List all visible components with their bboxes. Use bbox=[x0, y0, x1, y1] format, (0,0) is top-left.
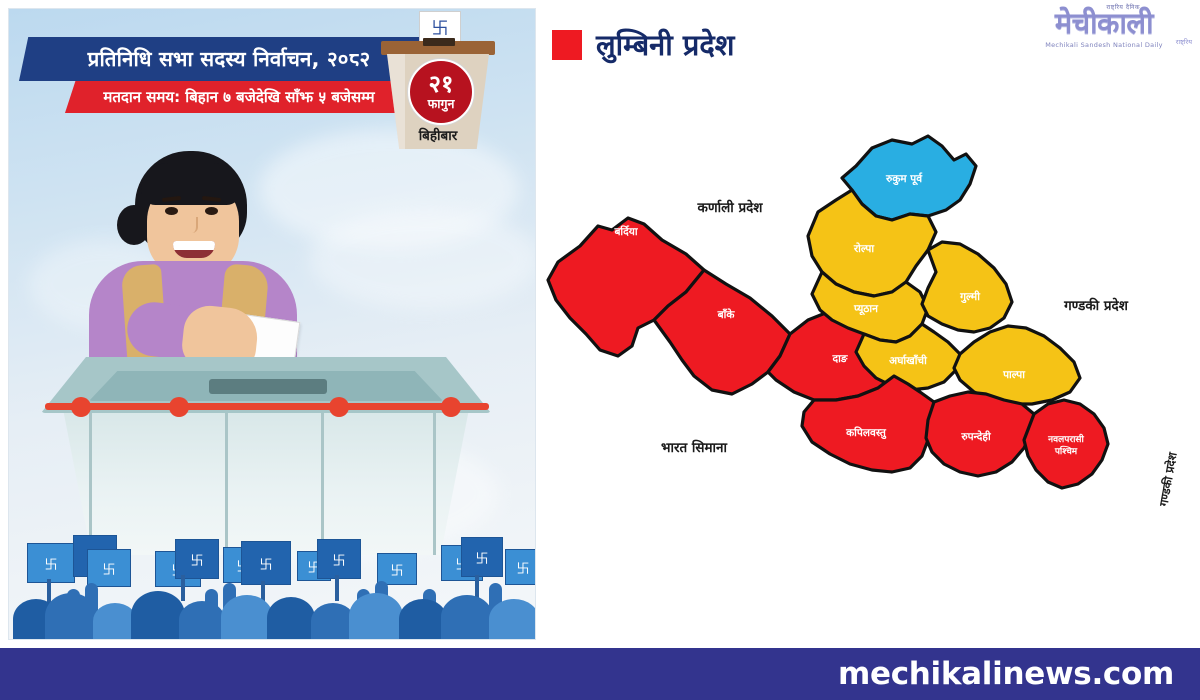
district-label-rolpa: रोल्पा bbox=[853, 242, 875, 255]
election-date-badge: 卐 २१ फागुन बिहीबार bbox=[377, 11, 499, 159]
placard-symbol: 卐 bbox=[505, 549, 536, 585]
date-month: फागुन bbox=[428, 97, 455, 111]
nose-shape bbox=[187, 217, 198, 233]
map-svg: बर्दिया बाँके दाङ रुकुम पूर्व रोल्पा प्य… bbox=[536, 120, 1200, 560]
district-label-nawalparasi: नवलपरासी bbox=[1047, 433, 1084, 445]
placard-symbol: 卐 bbox=[241, 541, 291, 585]
crowd-head bbox=[179, 601, 225, 639]
masthead-name: मेचीकाली bbox=[1014, 9, 1194, 38]
site-footer: mechikalinews.com bbox=[0, 648, 1200, 700]
placard-stick bbox=[335, 575, 339, 601]
seal-knot bbox=[169, 397, 189, 417]
placard-symbol: 卐 bbox=[317, 539, 361, 579]
placard-symbol: 卐 bbox=[27, 543, 75, 583]
banner-subline: मतदान समय: बिहान ७ बजेदेखि साँझ ५ बजेसम्… bbox=[65, 81, 413, 113]
eye-shape bbox=[205, 207, 218, 215]
district-label-kapilvastu: कपिलवस्तु bbox=[845, 426, 887, 440]
district-label-bardiya: बर्दिया bbox=[613, 225, 638, 238]
red-square-icon bbox=[552, 30, 582, 60]
placard-symbol: 卐 bbox=[175, 539, 219, 579]
district-label-arghakhanchi: अर्घाखाँची bbox=[889, 354, 928, 367]
hair-front-shape bbox=[141, 163, 241, 205]
district-label-rupandehi: रुपन्देही bbox=[960, 430, 992, 443]
hair-bun-shape bbox=[117, 205, 151, 245]
ballot-slot-small bbox=[423, 38, 455, 46]
masthead-subtitle: Mechikali Sandesh National Daily bbox=[1014, 41, 1194, 49]
province-label-gandaki-vertical: गण्डकी प्रदेश bbox=[1156, 450, 1180, 508]
seal-tie bbox=[45, 403, 489, 410]
swastika-icon: 卐 bbox=[432, 21, 449, 38]
banner-headline: प्रतिनिधि सभा सदस्य निर्वाचन, २०८२ bbox=[19, 37, 439, 81]
date-circle: २१ फागुन bbox=[408, 59, 474, 125]
province-label-gandaki: गण्डकी प्रदेश bbox=[1063, 297, 1129, 314]
eye-shape bbox=[165, 207, 178, 215]
poster-banner: प्रतिनिधि सभा सदस्य निर्वाचन, २०८२ मतदान… bbox=[19, 37, 439, 113]
district-label-gulmi: गुल्मी bbox=[959, 290, 981, 304]
province-label-karnali: कर्णाली प्रदेश bbox=[696, 199, 763, 216]
placard-stick bbox=[181, 575, 185, 601]
ballot-slot bbox=[209, 379, 327, 394]
placard-symbol: 卐 bbox=[87, 549, 131, 587]
placard-stick bbox=[47, 579, 51, 603]
election-poster: 卐 卐 卐 卐 卐 卐 卐 卐 卐 卐 卐 卐 卐 bbox=[8, 8, 536, 640]
lumbini-province-map: बर्दिया बाँके दाङ रुकुम पूर्व रोल्पा प्य… bbox=[536, 120, 1200, 560]
map-panel: राष्ट्रिय दैनिक मेचीकाली Mechikali Sande… bbox=[536, 0, 1200, 648]
district-label-dang: दाङ bbox=[832, 353, 849, 365]
district-shape-gulmi[interactable] bbox=[922, 242, 1012, 332]
district-label-rukum-purba: रुकुम पूर्व bbox=[885, 172, 923, 186]
district-label-pyuthan: प्यूठान bbox=[853, 303, 879, 316]
crowd-head bbox=[441, 595, 493, 639]
footer-website-url[interactable]: mechikalinews.com bbox=[838, 656, 1174, 692]
mouth-shape bbox=[173, 241, 215, 258]
crowd-head bbox=[267, 597, 315, 639]
masthead-tagline-right: राष्ट्रिय bbox=[1176, 37, 1192, 46]
district-label-palpa: पाल्पा bbox=[1002, 369, 1026, 381]
crowd-head bbox=[221, 595, 273, 639]
teeth-shape bbox=[173, 241, 215, 250]
district-label-nawalparasi-paschim: पश्चिम bbox=[1054, 445, 1078, 457]
district-label-banke: बाँके bbox=[717, 308, 736, 321]
banner-headline-text: प्रतिनिधि सभा सदस्य निर्वाचन, २०८२ bbox=[88, 45, 371, 73]
banner-subline-text: मतदान समय: बिहान ७ बजेदेखि साँझ ५ बजेसम्… bbox=[103, 87, 374, 107]
page-title: लुम्बिनी प्रदेश bbox=[552, 30, 734, 60]
crowd-head bbox=[131, 591, 185, 639]
border-label-india: भारत सिमाना bbox=[661, 439, 728, 456]
date-weekday: बिहीबार bbox=[377, 126, 499, 144]
crowd-head bbox=[349, 593, 403, 639]
crowd-head bbox=[45, 593, 97, 639]
page-root: 卐 卐 卐 卐 卐 卐 卐 卐 卐 卐 卐 卐 卐 bbox=[0, 0, 1200, 700]
crowd-illustration: 卐 卐 卐 卐 卐 卐 卐 卐 卐 卐 卐 卐 卐 bbox=[9, 519, 536, 639]
seal-knot bbox=[441, 397, 461, 417]
seal-knot bbox=[329, 397, 349, 417]
date-day-number: २१ bbox=[429, 73, 454, 96]
masthead-logo[interactable]: राष्ट्रिय दैनिक मेचीकाली Mechikali Sande… bbox=[1014, 2, 1194, 54]
masthead-tagline-top: राष्ट्रिय दैनिक bbox=[1106, 3, 1140, 11]
crowd-head bbox=[399, 599, 447, 639]
page-title-text: लुम्बिनी प्रदेश bbox=[596, 31, 734, 60]
seal-knot bbox=[71, 397, 91, 417]
placard-symbol: 卐 bbox=[461, 537, 503, 577]
crowd-head bbox=[489, 599, 536, 639]
